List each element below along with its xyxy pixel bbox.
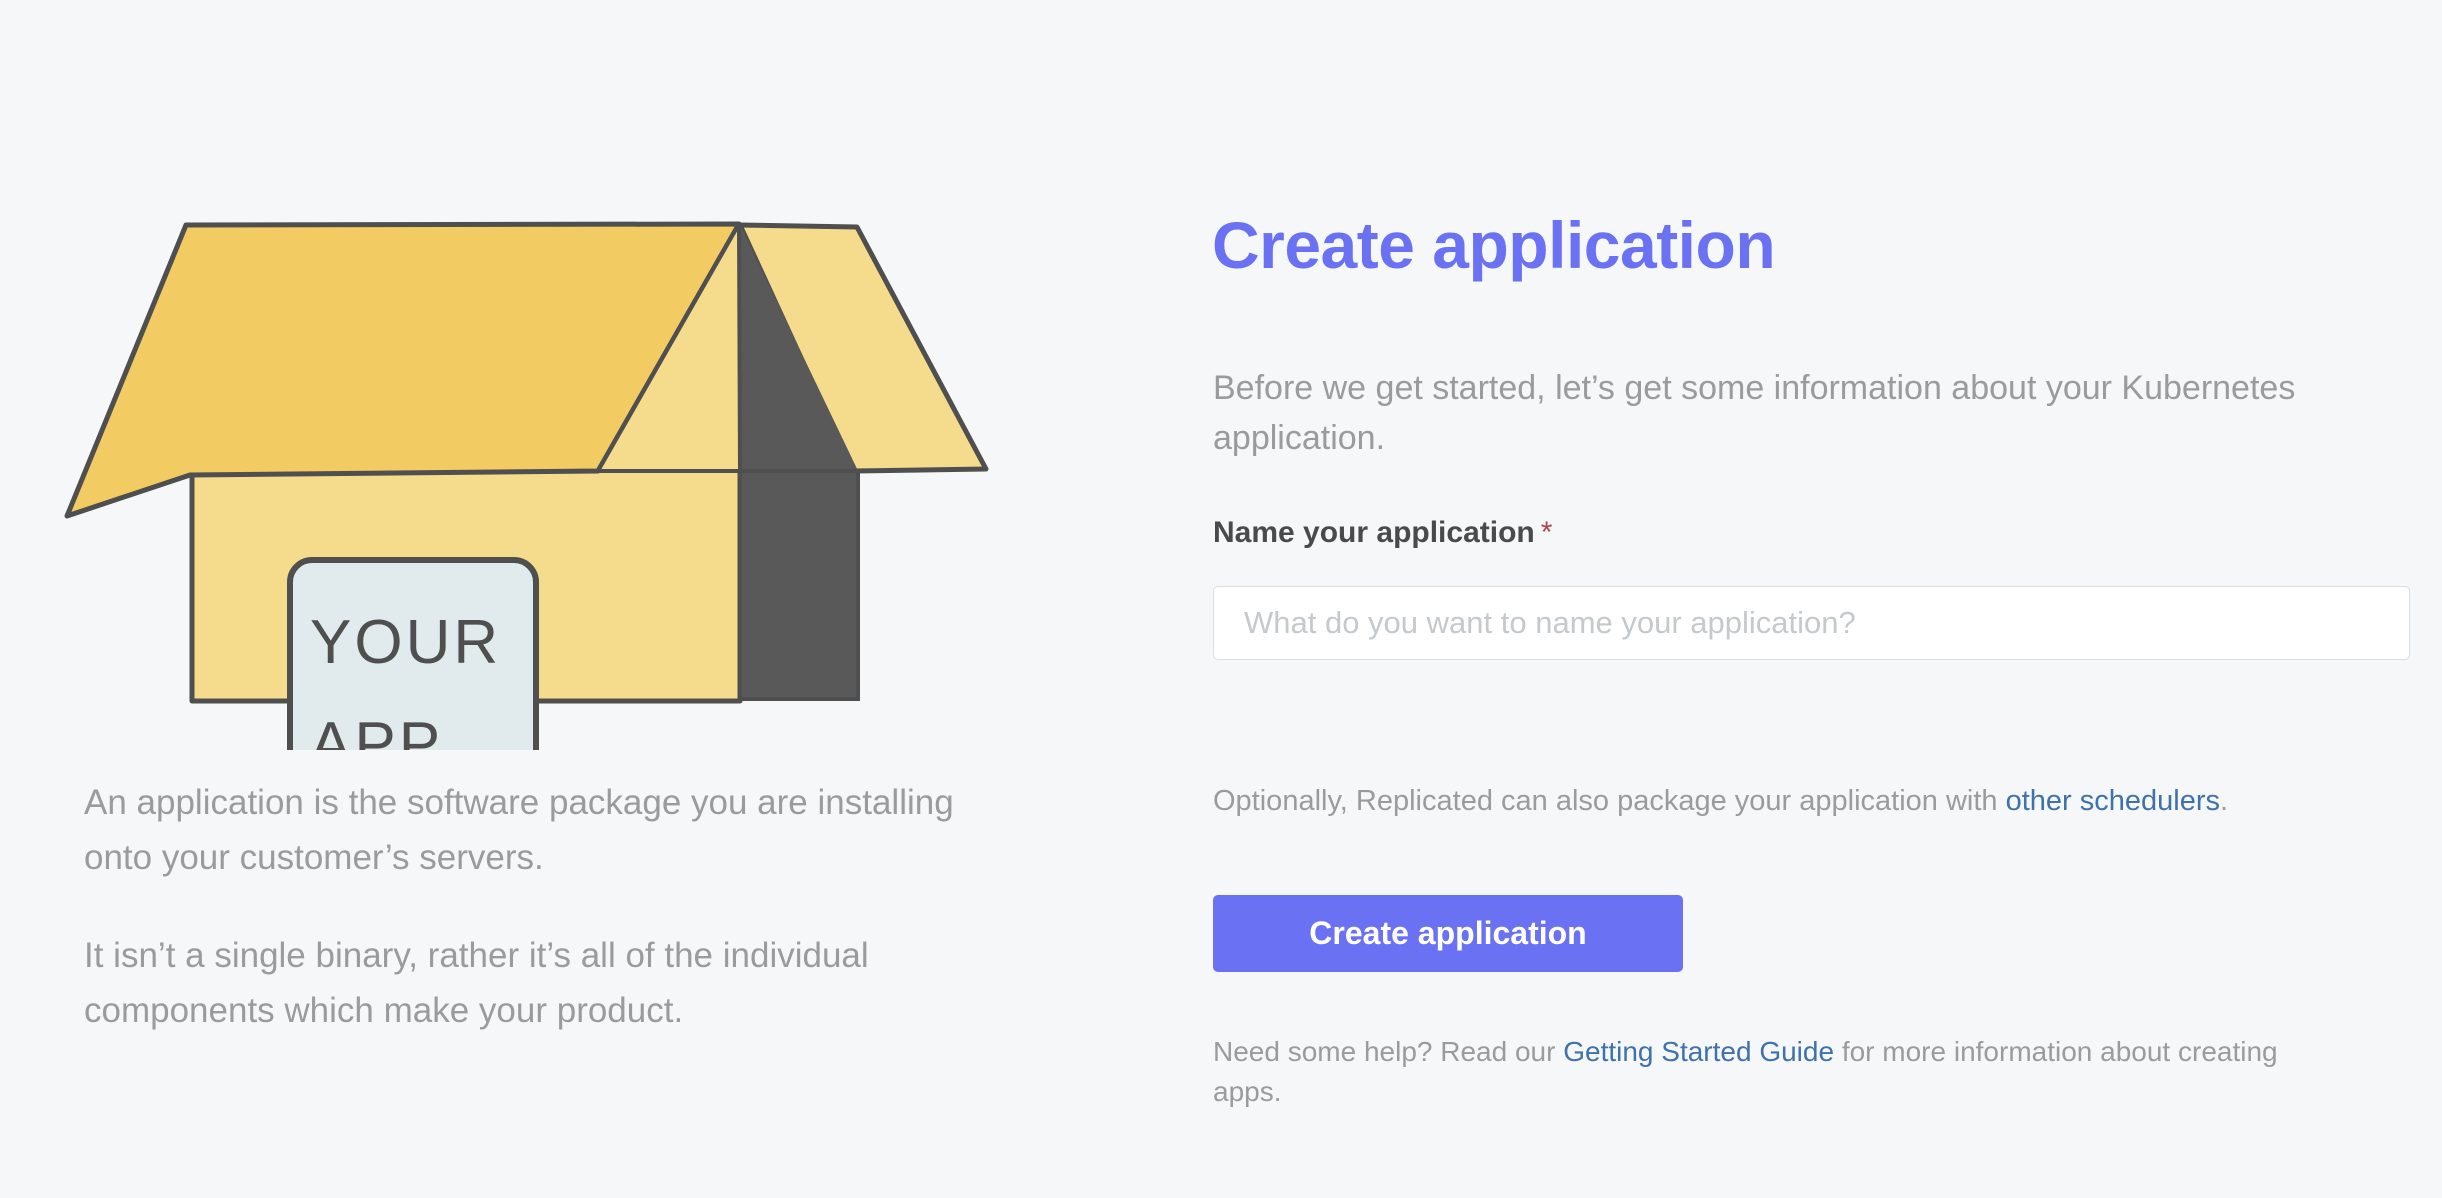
app-name-label: Name your application* xyxy=(1213,518,1552,548)
left-info-column: YOUR APP An application is the software … xyxy=(0,0,1140,1198)
scheduler-note-suffix: . xyxy=(2220,785,2228,817)
scheduler-note: Optionally, Replicated can also package … xyxy=(1213,781,2393,822)
help-note: Need some help? Read our Getting Started… xyxy=(1213,1032,2353,1112)
create-application-form-column: Create application Before we get started… xyxy=(1212,0,2422,1198)
app-name-input[interactable] xyxy=(1213,586,2410,660)
form-intro-text: Before we get started, let’s get some in… xyxy=(1213,363,2353,464)
required-asterisk: * xyxy=(1541,516,1553,549)
create-application-page: YOUR APP An application is the software … xyxy=(0,0,2442,1198)
illustration-label-line-1: YOUR xyxy=(310,608,501,677)
page-title: Create application xyxy=(1212,212,1775,278)
other-schedulers-link[interactable]: other schedulers xyxy=(2006,785,2220,817)
app-name-label-text: Name your application xyxy=(1213,516,1535,549)
getting-started-guide-link[interactable]: Getting Started Guide xyxy=(1563,1036,1834,1067)
help-note-prefix: Need some help? Read our xyxy=(1213,1036,1563,1067)
left-description-block: An application is the software package y… xyxy=(84,775,1004,1038)
illustration-label-line-2: APP xyxy=(310,710,443,750)
left-paragraph-2: It isn’t a single binary, rather it’s al… xyxy=(84,928,1004,1039)
open-cardboard-box-illustration: YOUR APP xyxy=(40,185,1060,750)
left-paragraph-1: An application is the software package y… xyxy=(84,775,1004,886)
scheduler-note-prefix: Optionally, Replicated can also package … xyxy=(1213,785,2006,817)
create-application-button[interactable]: Create application xyxy=(1213,895,1683,972)
